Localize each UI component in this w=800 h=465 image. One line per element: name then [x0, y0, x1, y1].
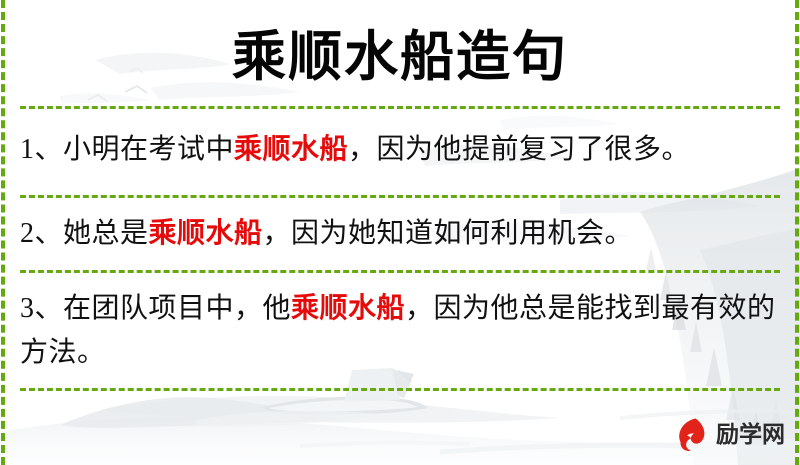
sentence-2-after: ，因为她知道如何利用机会。	[263, 218, 634, 249]
slide-canvas: 乘顺水船造句 1、小明在考试中乘顺水船，因为他提前复习了很多。 2、她总是乘顺水…	[0, 0, 800, 465]
sentence-row-1: 1、小明在考试中乘顺水船，因为他提前复习了很多。	[20, 128, 782, 172]
sentence-2-highlight: 乘顺水船	[149, 218, 263, 249]
separator-1	[20, 195, 780, 198]
sentence-3-before: 在团队项目中，他	[63, 293, 291, 324]
separator-top	[20, 106, 780, 109]
sentence-1-highlight: 乘顺水船	[234, 134, 348, 165]
sentence-2-number: 2、	[20, 218, 63, 249]
flame-swirl-icon	[672, 415, 710, 453]
sentence-row-3: 3、在团队项目中，他乘顺水船，因为他总是能找到最有效的方法。	[20, 287, 782, 375]
separator-2	[20, 270, 780, 273]
separator-3	[20, 388, 780, 391]
site-logo[interactable]: 励学网	[672, 412, 792, 456]
sentence-1-before: 小明在考试中	[63, 134, 234, 165]
page-title: 乘顺水船造句	[0, 22, 800, 92]
sentence-3-number: 3、	[20, 293, 63, 324]
sentence-row-2: 2、她总是乘顺水船，因为她知道如何利用机会。	[20, 212, 782, 256]
sentence-2-before: 她总是	[63, 218, 149, 249]
sentence-3-highlight: 乘顺水船	[291, 293, 405, 324]
logo-text: 励学网	[716, 423, 785, 446]
sentence-1-number: 1、	[20, 134, 63, 165]
sentence-1-after: ，因为他提前复习了很多。	[348, 134, 690, 165]
